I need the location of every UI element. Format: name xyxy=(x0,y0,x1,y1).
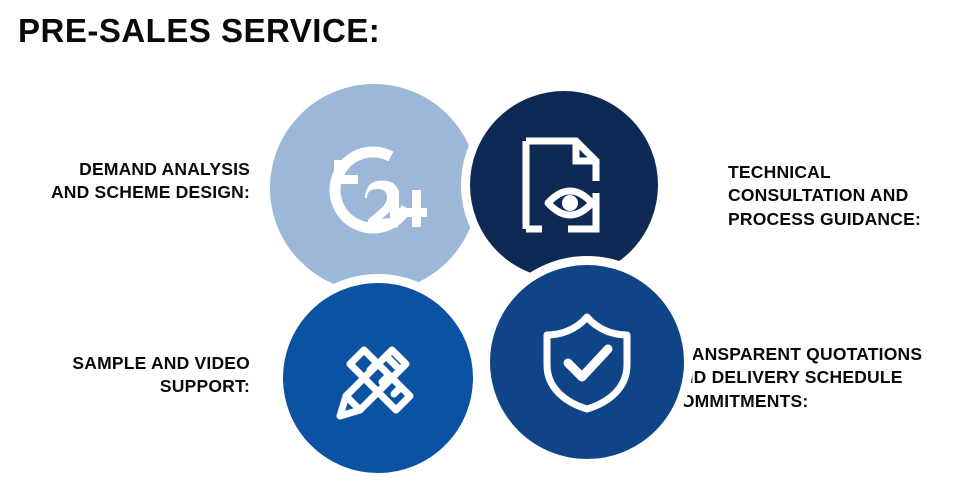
document-eye-review-icon xyxy=(512,133,616,237)
icon-holder-sample xyxy=(283,283,473,473)
label-technical-consultation: TECHNICAL CONSULTATION AND PROCESS GUIDA… xyxy=(728,161,953,231)
24-hour-rotate-arrow-icon xyxy=(321,138,427,238)
shield-check-icon xyxy=(537,309,637,415)
page-title: PRE-SALES SERVICE: xyxy=(18,12,380,50)
icon-holder-technical xyxy=(470,91,658,279)
label-transparent-quotations: TRANSPARENT QUOTATIONS AND DELIVERY SCHE… xyxy=(668,343,960,413)
circle-sample-video-support[interactable] xyxy=(274,274,482,482)
pencil-ruler-design-icon xyxy=(326,326,430,430)
circle-transparent-quotations[interactable] xyxy=(481,256,693,468)
circle-technical-consultation[interactable] xyxy=(461,82,667,288)
service-circle-cluster xyxy=(262,74,682,494)
icon-holder-demand xyxy=(270,84,478,292)
circle-demand-analysis[interactable] xyxy=(270,84,478,292)
label-sample-video-support: SAMPLE AND VIDEO SUPPORT: xyxy=(10,352,250,399)
label-demand-analysis: DEMAND ANALYSIS AND SCHEME DESIGN: xyxy=(10,158,250,205)
icon-holder-quotation xyxy=(490,265,684,459)
